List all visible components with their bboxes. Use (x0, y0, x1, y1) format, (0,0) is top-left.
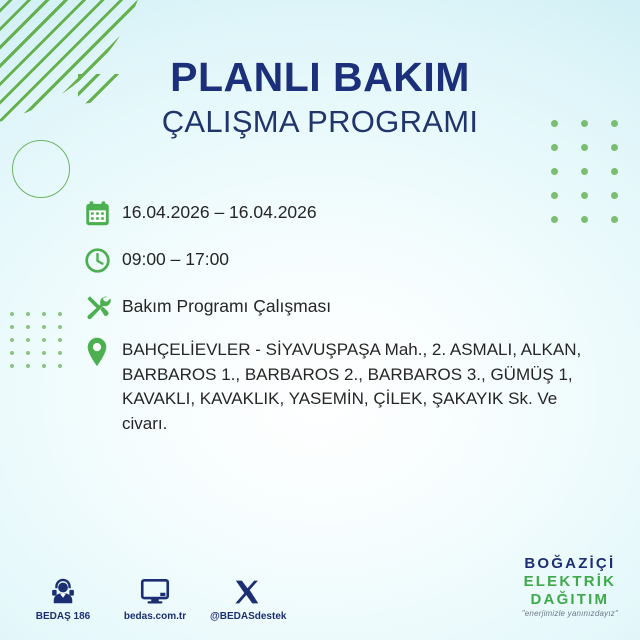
headset-support-icon (26, 572, 100, 606)
page-title: PLANLI BAKIM (0, 56, 640, 99)
contact-social[interactable]: @BEDASdestek (210, 572, 284, 622)
dot-grid-left-decoration (10, 312, 74, 377)
clock-icon (84, 243, 122, 277)
brand-tagline: "enerjimizle yanınızdayız" (522, 610, 618, 618)
calendar-icon (84, 196, 122, 230)
work-type-value: Bakım Programı Çalışması (122, 290, 331, 318)
brand-line-1: BOĞAZİÇİ (522, 556, 618, 571)
brand-line-3: DAĞITIM (522, 592, 618, 607)
planned-maintenance-poster: PLANLI BAKIM ÇALIŞMA PROGRAMI (0, 0, 640, 640)
date-range-value: 16.04.2026 – 16.04.2026 (122, 196, 317, 224)
poster-header: PLANLI BAKIM ÇALIŞMA PROGRAMI (0, 56, 640, 139)
circle-outline-decoration (12, 140, 70, 198)
poster-footer: BEDAŞ 186 bedas.com.tr (0, 546, 640, 626)
location-pin-icon (84, 337, 122, 367)
tools-icon (84, 290, 122, 324)
contact-channels: BEDAŞ 186 bedas.com.tr (26, 572, 284, 622)
monitor-icon (118, 572, 192, 606)
contact-phone-label: BEDAŞ 186 (26, 611, 100, 622)
contact-phone[interactable]: BEDAŞ 186 (26, 572, 100, 622)
brand-line-2: ELEKTRİK (522, 574, 618, 589)
contact-website[interactable]: bedas.com.tr (118, 572, 192, 622)
page-subtitle: ÇALIŞMA PROGRAMI (0, 105, 640, 139)
x-twitter-icon (210, 572, 284, 606)
time-range-value: 09:00 – 17:00 (122, 243, 229, 271)
maintenance-details: 16.04.2026 – 16.04.2026 09:00 – 17:00 (84, 196, 604, 450)
contact-social-label: @BEDASdestek (210, 611, 284, 622)
detail-row-time: 09:00 – 17:00 (84, 243, 604, 277)
detail-row-date: 16.04.2026 – 16.04.2026 (84, 196, 604, 230)
detail-row-work-type: Bakım Programı Çalışması (84, 290, 604, 324)
detail-row-address: BAHÇELİEVLER - SİYAVUŞPAŞA Mah., 2. ASMA… (84, 337, 604, 437)
address-value: BAHÇELİEVLER - SİYAVUŞPAŞA Mah., 2. ASMA… (122, 337, 592, 437)
contact-website-label: bedas.com.tr (118, 611, 192, 622)
bedas-logo: BOĞAZİÇİ ELEKTRİK DAĞITIM "enerjimizle y… (522, 556, 618, 618)
